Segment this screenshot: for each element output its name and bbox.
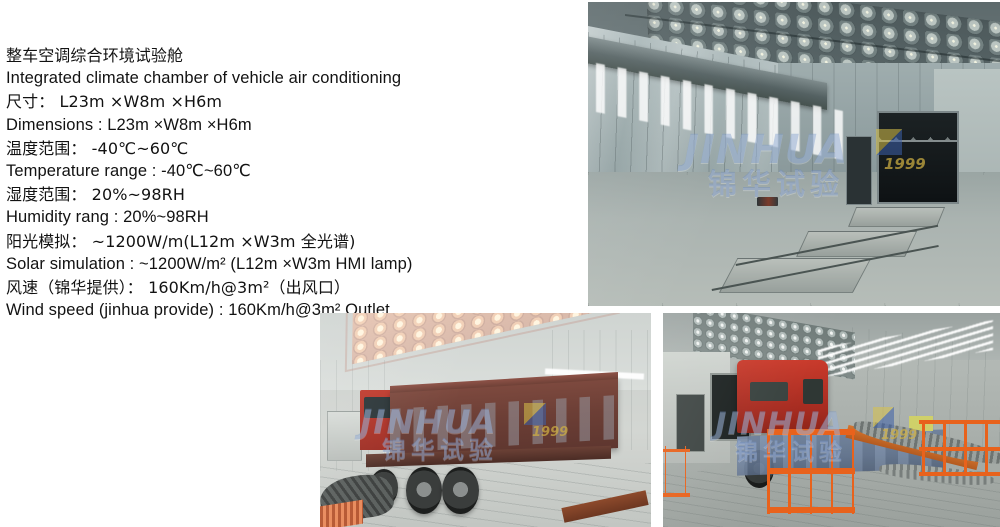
barrier-post: [831, 429, 834, 515]
dump-bed-ribs: [390, 395, 618, 453]
photo-dump-truck-under-solar-lamps: JINHUA 锦华试验 1999: [320, 313, 651, 527]
spec-line-humidity-cn: 湿度范围： 20%~98RH: [6, 183, 566, 206]
spec-line-title-cn: 整车空调综合环境试验舱: [6, 44, 566, 67]
barrier-rail: [663, 449, 690, 453]
spec-line-dimensions-cn: 尺寸： L23m ×W8m ×H6m: [6, 90, 566, 113]
photo-climate-chamber-interior: JINHUA 锦华试验 1999: [588, 2, 1000, 306]
watermark-flag-icon: [873, 407, 894, 428]
chassis-dyno-pit: [848, 207, 945, 227]
photo-truck-cab-with-barriers: JINHUA 锦华试验 1999: [663, 313, 1000, 527]
floor-equipment: [757, 197, 778, 206]
spec-line-temperature-cn: 温度范围： -40℃~60℃: [6, 137, 566, 160]
barrier-post: [943, 420, 946, 476]
wall-access-panel: [846, 136, 873, 205]
test-equipment-cabinet: [327, 411, 362, 460]
barrier-post: [685, 446, 686, 497]
barrier-post: [964, 420, 967, 476]
watermark-flag-icon: [876, 129, 902, 155]
barrier-post: [767, 429, 770, 515]
truck-cab-side-window: [803, 379, 823, 404]
truck-cab-window: [364, 397, 392, 417]
barrier-post: [665, 446, 666, 497]
tractor-scene: [663, 313, 1000, 527]
barrier-post: [810, 429, 813, 515]
spec-line-dimensions-en: Dimensions : L23m ×W8m ×H6m: [6, 114, 566, 137]
specification-text-block: 整车空调综合环境试验舱 Integrated climate chamber o…: [6, 44, 566, 322]
chamber-vehicle-door: [877, 111, 959, 203]
safety-barrier: [919, 420, 1000, 476]
watermark-flag-icon: [524, 403, 546, 425]
spec-line-temperature-en: Temperature range : -40℃~60℃: [6, 160, 566, 183]
truck-cab-window: [750, 382, 788, 401]
barrier-rail: [663, 493, 690, 497]
barrier-post: [922, 420, 925, 476]
truck-wheel: [442, 467, 478, 514]
spec-line-humidity-en: Humidity rang : 20%~98RH: [6, 206, 566, 229]
spec-line-solar-en: Solar simulation : ~1200W/m² (L12m ×W3m …: [6, 253, 566, 276]
barrier-post: [852, 429, 855, 515]
barrier-post: [788, 429, 791, 515]
barrier-post: [985, 420, 988, 476]
spec-line-windspeed-cn: 风速（锦华提供）： 160Km/h@3m²（出风口）: [6, 276, 566, 299]
safety-barrier: [663, 446, 690, 497]
truck-cab: [737, 360, 828, 433]
dumptruck-scene: [320, 313, 651, 527]
chamber-side-door: [676, 394, 705, 452]
safety-barrier: [767, 429, 855, 515]
spec-line-title-en: Integrated climate chamber of vehicle ai…: [6, 67, 566, 90]
spec-line-solar-cn: 阳光模拟： ~1200W/m(L12m ×W3m 全光谱): [6, 230, 566, 253]
chamber-scene: [588, 2, 1000, 306]
